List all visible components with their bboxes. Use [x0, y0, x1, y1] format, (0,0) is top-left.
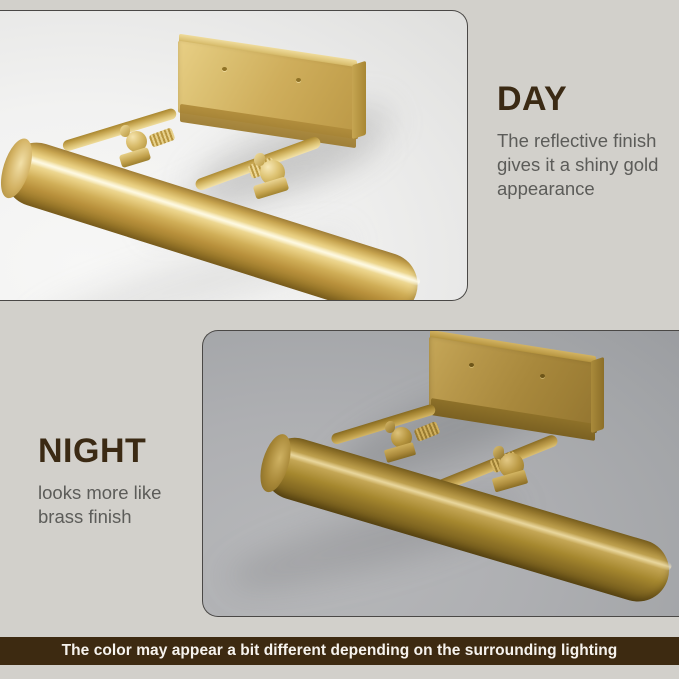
mounting-backplate: [425, 343, 605, 443]
disclaimer-banner: The color may appear a bit different dep…: [0, 637, 679, 665]
infographic-page: DAY The reflective finish gives it a shi…: [0, 0, 679, 679]
backplate-screw: [296, 78, 301, 82]
knuckle-finial: [254, 153, 265, 166]
lamp-assembly-night: [203, 331, 679, 616]
barrel-mount-foot: [384, 442, 416, 463]
mounting-backplate: [174, 47, 364, 151]
disclaimer-text: The color may appear a bit different dep…: [62, 642, 618, 660]
night-text-block: NIGHT looks more like brass finish: [38, 434, 208, 529]
barrel-mount-foot: [253, 176, 290, 199]
night-description: looks more like brass finish: [38, 481, 208, 529]
barrel-highlight: [8, 149, 421, 287]
product-photo-day: [0, 10, 468, 301]
day-text-block: DAY The reflective finish gives it a shi…: [497, 82, 675, 201]
lamp-barrel: [256, 430, 676, 609]
product-photo-night: [202, 330, 679, 617]
knuckle-finial: [493, 446, 504, 459]
barrel-highlight: [267, 444, 672, 572]
barrel-mount-foot: [119, 147, 151, 168]
backplate-side-edge: [352, 61, 366, 140]
barrel-end-cap: [0, 135, 38, 202]
lamp-barrel: [0, 134, 426, 301]
backplate-side-edge: [591, 357, 604, 433]
night-heading: NIGHT: [38, 434, 208, 470]
barrel-end-cap: [255, 431, 297, 496]
knuckle-finial: [385, 421, 395, 433]
arm-collar: [149, 127, 176, 147]
day-heading: DAY: [497, 82, 675, 118]
day-description: The reflective finish gives it a shiny g…: [497, 129, 675, 201]
lamp-assembly-day: [0, 11, 467, 300]
backplate-screw: [540, 374, 545, 378]
barrel-mount-foot: [492, 470, 529, 493]
backplate-screw: [469, 363, 474, 367]
backplate-screw: [222, 67, 227, 71]
knuckle-finial: [120, 125, 130, 137]
